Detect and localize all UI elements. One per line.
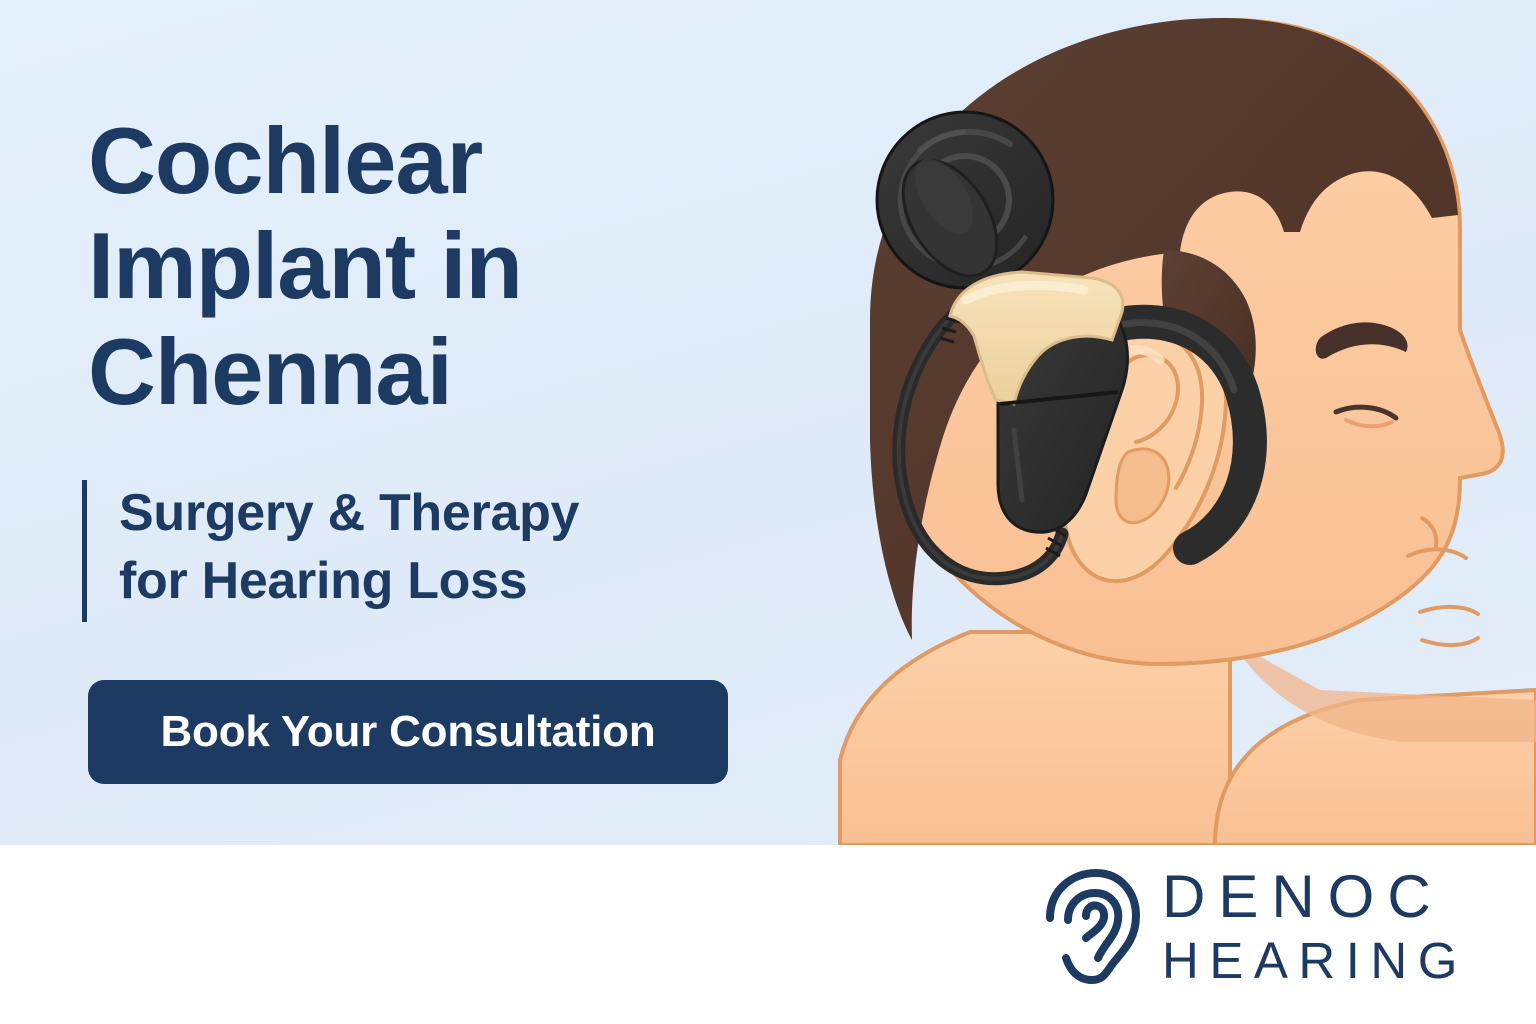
subheading-line-1: Surgery & Therapy	[119, 480, 579, 548]
upper-lip-line	[1420, 607, 1478, 614]
banner: Cochlear Implant in Chennai Surgery & Th…	[0, 0, 1536, 1024]
subheading-line-2: for Hearing Loss	[119, 548, 579, 616]
cochlear-implant-illustration	[760, 0, 1536, 845]
headline-line-3: Chennai	[88, 319, 708, 424]
ear-icon	[1040, 866, 1144, 988]
subheading-block: Surgery & Therapy for Hearing Loss	[82, 480, 722, 622]
logo-name-bottom: HEARING	[1162, 933, 1468, 989]
book-consultation-button[interactable]: Book Your Consultation	[88, 680, 728, 784]
headline-line-2: Implant in	[88, 213, 708, 318]
brand-logo: DENOC HEARING	[1040, 862, 1460, 992]
lower-lip-line	[1422, 638, 1478, 645]
accent-bar	[82, 480, 87, 622]
page-title: Cochlear Implant in Chennai	[88, 108, 708, 424]
headline-line-1: Cochlear	[88, 108, 708, 213]
logo-wordmark: DENOC HEARING	[1162, 865, 1468, 989]
logo-name-top: DENOC	[1162, 865, 1468, 929]
subheading: Surgery & Therapy for Hearing Loss	[119, 480, 579, 622]
